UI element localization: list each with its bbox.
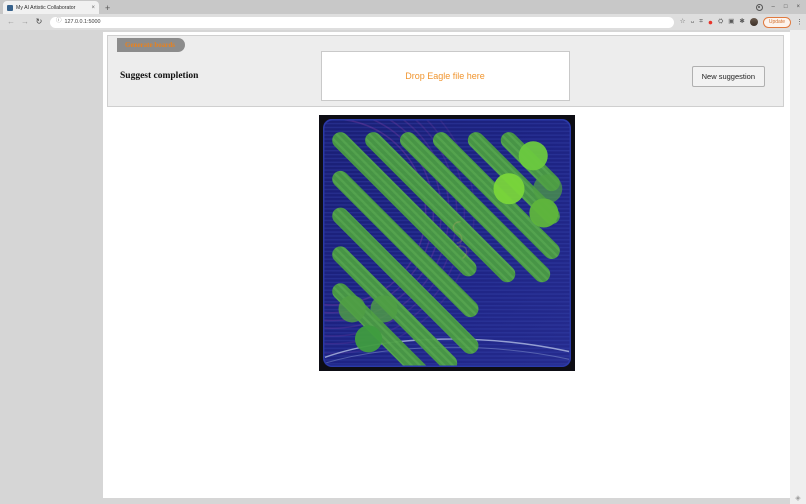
bookmark-star-icon[interactable]: ☆ (680, 19, 686, 26)
new-suggestion-button[interactable]: New suggestion (692, 66, 765, 87)
browser-menu-icon[interactable]: ⋮ (796, 19, 802, 26)
toolbar-icon-group: ☆ ᴗ ⌗ ● ⛭ ▣ ✱ Update ⋮ (678, 17, 802, 28)
extensions-icon[interactable]: ⌗ (699, 19, 703, 26)
browser-titlebar: My AI Artistic Collaborator × + – □ × (0, 0, 806, 14)
page-favicon-icon (7, 5, 13, 11)
dropzone-label: Drop Eagle file here (405, 71, 485, 81)
panel-tabstrip: Generate boards (117, 38, 185, 52)
panel-body: Suggest completion Drop Eagle file here … (108, 36, 783, 106)
address-bar-url: 127.0.0.1:5000 (65, 19, 101, 25)
profile-dot-icon[interactable] (756, 4, 763, 11)
generative-art-canvas (323, 119, 571, 367)
back-icon[interactable]: ← (4, 18, 18, 26)
address-bar[interactable]: ⓘ 127.0.0.1:5000 (50, 17, 674, 28)
browser-toolbar: ← → ↻ ⓘ 127.0.0.1:5000 ☆ ᴗ ⌗ ● ⛭ ▣ ✱ Upd… (0, 14, 806, 30)
browser-tab[interactable]: My AI Artistic Collaborator × (3, 1, 99, 14)
minimize-icon[interactable]: – (772, 4, 775, 10)
tab-title: My AI Artistic Collaborator (16, 5, 88, 11)
window-controls: – □ × (756, 0, 804, 14)
suggest-completion-label: Suggest completion (120, 71, 198, 93)
avatar[interactable] (750, 18, 758, 26)
art-layers (323, 119, 571, 367)
shield-lock-icon[interactable]: ⛭ (718, 19, 723, 26)
site-info-icon[interactable]: ⓘ (56, 19, 62, 25)
artwork-container (103, 115, 790, 371)
reload-icon[interactable]: ↻ (32, 18, 46, 26)
page-scrollbar[interactable]: ◈ (790, 30, 806, 504)
new-tab-button[interactable]: + (105, 4, 110, 14)
cast-device-icon[interactable]: ▣ (728, 19, 734, 26)
update-button[interactable]: Update (763, 17, 791, 28)
forward-icon[interactable]: → (18, 18, 32, 26)
browser-viewport: Generate boards Suggest completion Drop … (0, 30, 806, 504)
tab-close-icon[interactable]: × (91, 5, 95, 11)
favorite-star-icon[interactable]: ✱ (739, 19, 744, 26)
tab-generate-boards[interactable]: Generate boards (117, 38, 185, 52)
maximize-icon[interactable]: □ (784, 4, 788, 10)
eagle-file-dropzone[interactable]: Drop Eagle file here (321, 51, 570, 101)
filter-icon[interactable]: ᴗ (691, 19, 695, 26)
browser-window: My AI Artistic Collaborator × + – □ × ← … (0, 0, 806, 504)
page-content: Generate boards Suggest completion Drop … (103, 32, 790, 498)
opera-red-icon[interactable]: ● (708, 18, 713, 27)
generative-art-frame[interactable] (319, 115, 575, 371)
generator-panel: Generate boards Suggest completion Drop … (107, 35, 784, 107)
scroll-marker-icon[interactable]: ◈ (795, 495, 800, 502)
window-close-icon[interactable]: × (796, 4, 800, 10)
